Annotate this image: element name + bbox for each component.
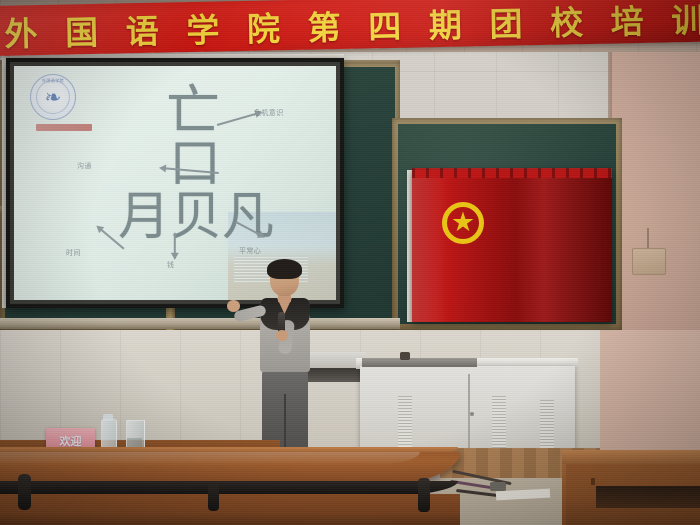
banner-char: 语	[125, 5, 159, 54]
presenter	[236, 262, 332, 458]
logo-flame-glyph: ❧	[45, 87, 62, 107]
banner-char: 国	[65, 6, 99, 55]
slide-character-wang: 亡	[166, 84, 220, 138]
podium-knob[interactable]	[400, 352, 410, 360]
banner-char: 院	[246, 2, 280, 51]
podium-control-strip[interactable]	[362, 358, 477, 367]
front-table-apron	[0, 494, 460, 525]
right-desk-shelf	[596, 486, 700, 508]
cabinet-vent	[492, 396, 506, 454]
front-table-sheen	[0, 452, 420, 465]
slide-label-weiji: 危机意识	[254, 108, 284, 118]
youth-league-flag	[412, 170, 612, 322]
rail-post	[418, 478, 430, 512]
presenter-right-hand	[276, 330, 288, 341]
lecture-hall-photo: 外国语学院 ❧ 亡 口 月 贝 凡 危机意识 沟通 时间 钱 平常心	[0, 0, 700, 525]
slide-label-pingchangxin: 平常心	[239, 246, 261, 256]
slide-character-kou: 口	[169, 138, 221, 190]
banner-char: 校	[550, 0, 584, 45]
slide-label-goutong: 沟通	[77, 161, 92, 171]
star-icon: ★	[449, 209, 477, 237]
banner-char: 期	[428, 0, 462, 47]
cabinet-vent	[398, 396, 412, 454]
university-logo-icon: 外国语学院 ❧	[30, 74, 76, 120]
lower-right-wall	[600, 330, 700, 450]
cabinet-vent	[540, 400, 554, 452]
banner-char: 四	[368, 0, 402, 48]
floor-power-plug	[490, 482, 506, 491]
flag-top-edge	[412, 168, 612, 178]
rail-post	[208, 481, 219, 511]
banner-char: 培	[610, 0, 644, 44]
slide-label-shijian: 时间	[66, 248, 81, 258]
slide-label-qian: 钱	[167, 260, 174, 270]
banner-char: 外	[4, 7, 38, 56]
presenter-hair	[267, 259, 302, 279]
slide-character-bei: 贝	[170, 191, 222, 243]
wall-mounted-box	[632, 248, 666, 275]
wall-wire	[647, 228, 649, 250]
slide-character-yue: 月	[118, 191, 170, 243]
logo-ring-text: 外国语学院	[31, 78, 75, 84]
presenter-left-hand	[227, 300, 240, 312]
rail-post	[18, 474, 31, 510]
slide-accent-bar	[36, 124, 92, 131]
banner-char: 学	[186, 3, 220, 52]
right-desk-top	[562, 450, 700, 464]
banner-char: 第	[307, 1, 341, 50]
cabinet-handle[interactable]	[470, 412, 474, 416]
arrow-to-qian	[174, 233, 176, 259]
chalk-ledge	[0, 318, 400, 329]
banner-char: 训	[671, 0, 700, 42]
banner-char: 团	[489, 0, 523, 46]
right-wall	[610, 52, 700, 352]
right-desk-lock	[591, 478, 595, 485]
